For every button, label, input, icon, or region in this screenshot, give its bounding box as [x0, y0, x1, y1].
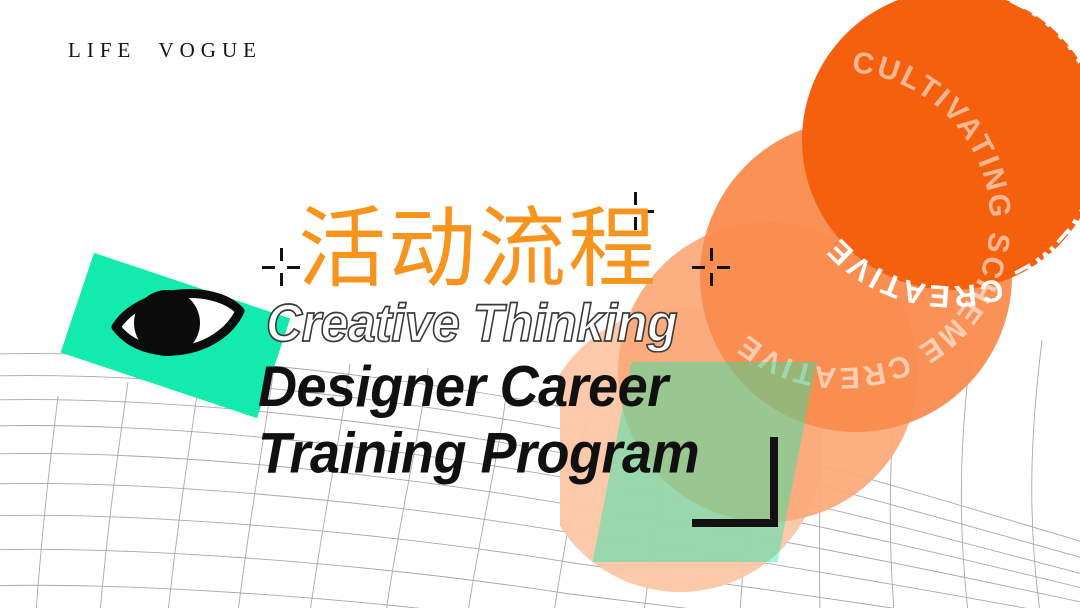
bold-headline-line-1: Designer Career: [258, 355, 668, 419]
eye-icon: [110, 281, 246, 369]
outline-subtitle: Creative Thinking: [266, 293, 778, 354]
bracket-vertical-bar: [770, 437, 778, 527]
poster-canvas: LIFE VOGUE CULTIVATING SCHEME CREATIVE C…: [0, 0, 1080, 608]
corner-bracket-icon: [692, 437, 778, 527]
bracket-horizontal-bar: [692, 519, 778, 527]
brand-wordmark: LIFE VOGUE: [68, 38, 262, 63]
chinese-title: 活动流程: [298, 206, 778, 292]
